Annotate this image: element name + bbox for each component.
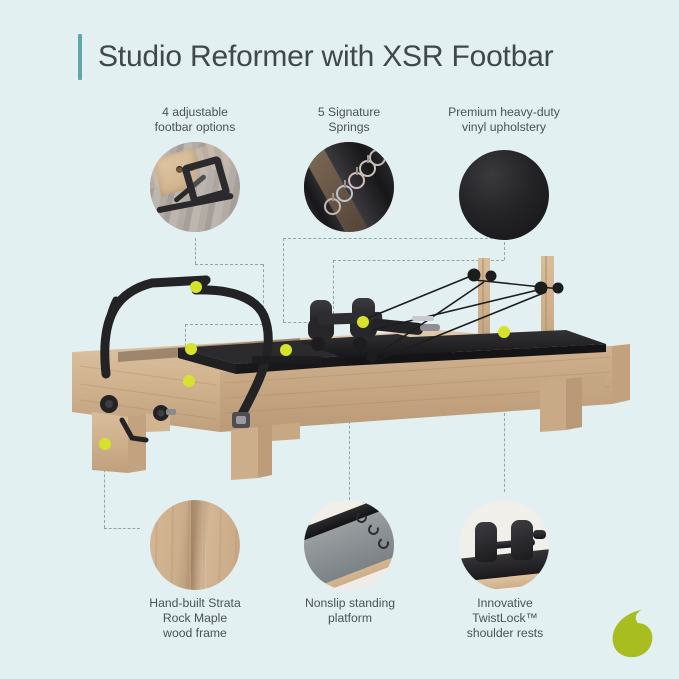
hotspot-footbar-low[interactable] xyxy=(183,375,195,387)
hotspot-upholstery[interactable] xyxy=(280,344,292,356)
balanced-body-logo[interactable] xyxy=(601,600,663,662)
hotspot-wood-frame[interactable] xyxy=(99,438,111,450)
carriage-underframe xyxy=(252,356,322,364)
hotspot-shoulder-rests[interactable] xyxy=(498,326,510,338)
footbar-hinge xyxy=(232,412,250,428)
product-infographic: Studio Reformer with XSR Footbar 4 adjus… xyxy=(0,0,679,679)
hotspot-footbar-mid[interactable] xyxy=(185,343,197,355)
hotspot-footbar-top[interactable] xyxy=(190,281,202,293)
product-illustration xyxy=(0,0,679,679)
hotspot-springs[interactable] xyxy=(357,316,369,328)
